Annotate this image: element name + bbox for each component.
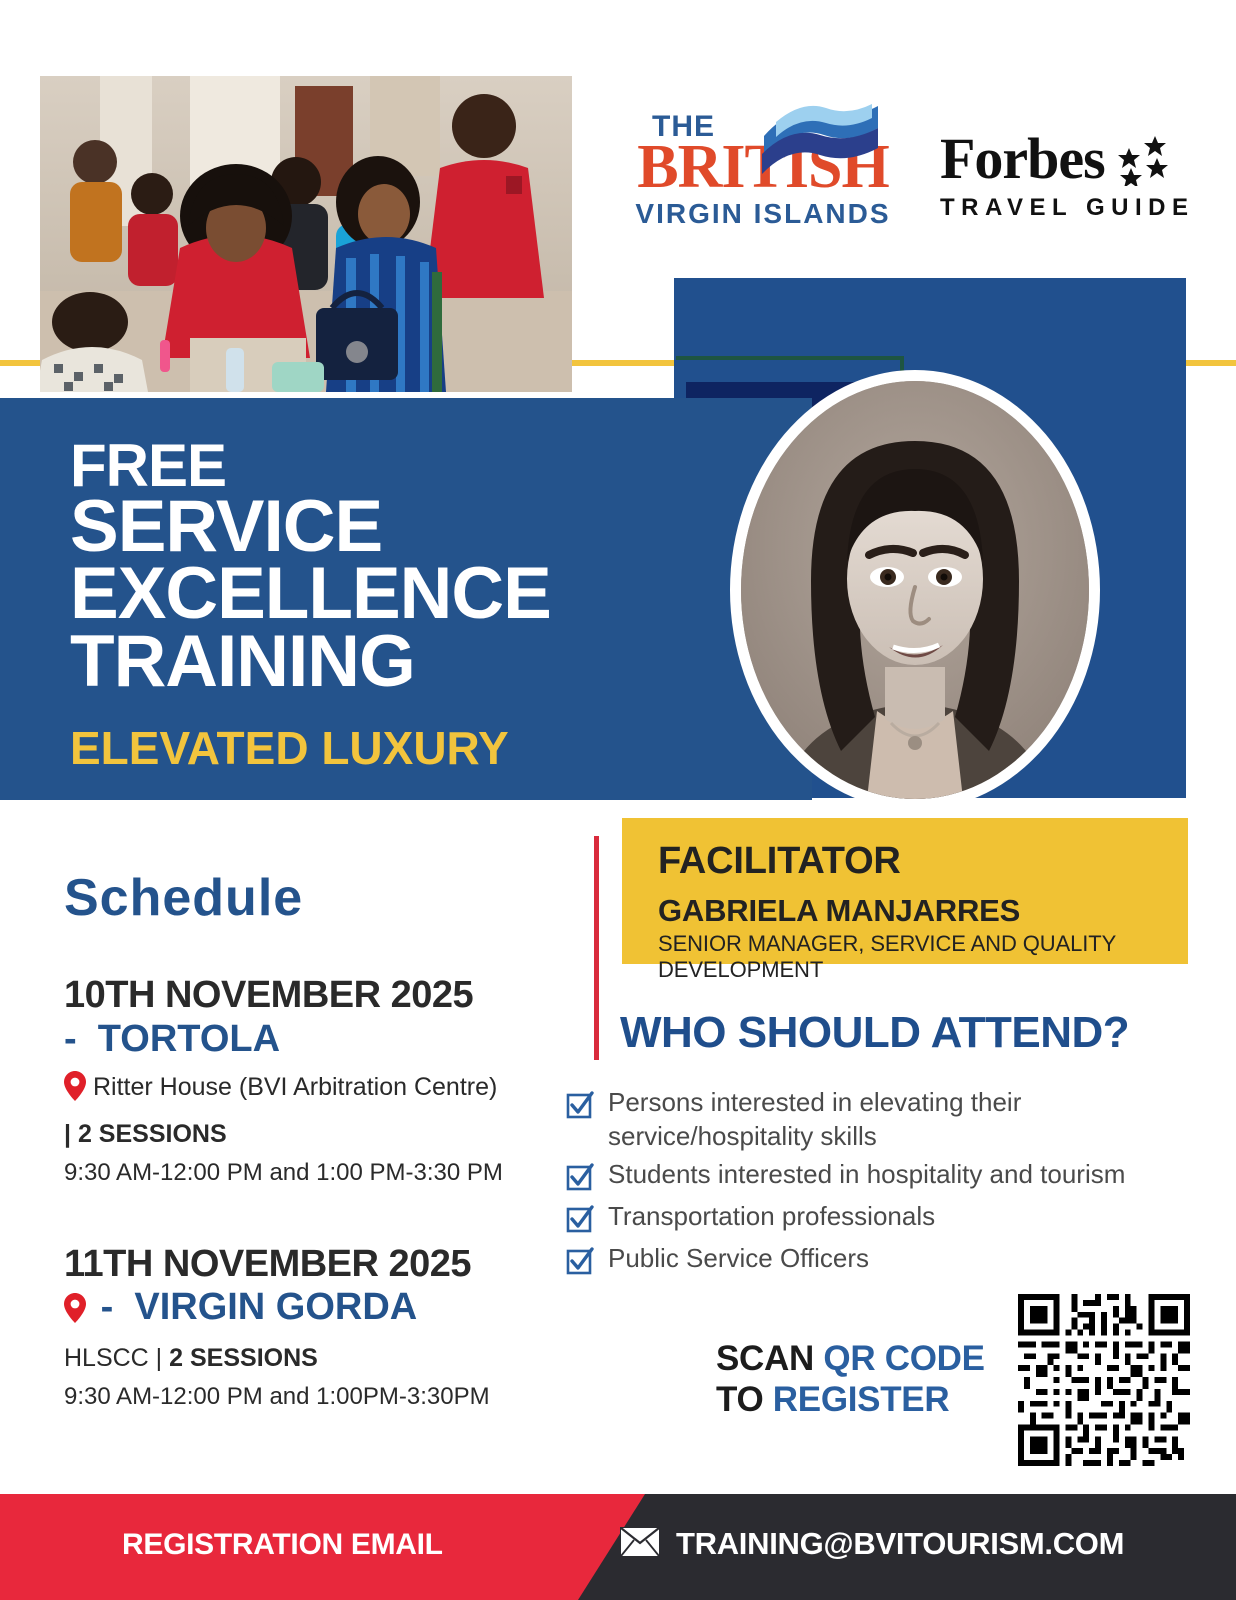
bvi-logo: THE BRITISH VIRGIN ISLANDS (628, 112, 898, 228)
headline-subtitle: ELEVATED LUXURY (70, 721, 770, 775)
list-item: Persons interested in elevating their se… (566, 1086, 1186, 1154)
list-item: Public Service Officers (566, 1242, 1186, 1280)
list-item: Students interested in hospitality and t… (566, 1158, 1186, 1196)
footer-label: REGISTRATION EMAIL (122, 1528, 443, 1562)
facilitator-name: GABRIELA MANJARRES (658, 893, 1188, 929)
bvi-logo-sub: VIRGIN ISLANDS (628, 200, 898, 228)
facilitator-title: FACILITATOR (658, 840, 1188, 883)
scan-word-scan: SCAN (716, 1339, 823, 1378)
location-pin-icon (64, 1071, 86, 1110)
flyer-page: THE BRITISH VIRGIN ISLANDS Forbes TRAVEL… (0, 0, 1236, 1600)
location-pin-icon (64, 1289, 86, 1334)
event-location: - VIRGIN GORDA (64, 1285, 564, 1334)
event-times: 9:30 AM-12:00 PM and 1:00 PM-3:30 PM (64, 1159, 564, 1187)
footer-email-address: TRAINING@BVITOURISM.COM (676, 1526, 1124, 1562)
list-item-label: Public Service Officers (608, 1242, 869, 1276)
schedule-event-virgin-gorda: 11TH NOVEMBER 2025 - VIRGIN GORDA HLSCC … (64, 1243, 564, 1411)
headline-line-1: FREE (70, 438, 770, 493)
headline-line-2: SERVICE (70, 493, 770, 560)
headline-line-4: TRAINING (70, 628, 770, 695)
envelope-icon (620, 1527, 660, 1562)
event-date: 10TH NOVEMBER 2025 (64, 974, 564, 1017)
scan-word-to: TO (716, 1380, 773, 1419)
event-dash: - (64, 1018, 77, 1060)
event-location: - TORTOLA (64, 1017, 564, 1062)
wave-icon (756, 100, 886, 174)
checkbox-checked-icon (566, 1205, 594, 1238)
list-item-label: Students interested in hospitality and t… (608, 1158, 1125, 1192)
event-sessions-prefix: HLSCC | (64, 1344, 162, 1372)
who-should-attend-title: WHO SHOULD ATTEND? (620, 1008, 1129, 1058)
checkbox-checked-icon (566, 1247, 594, 1280)
facilitator-card: FACILITATOR GABRIELA MANJARRES SENIOR MA… (622, 818, 1188, 964)
scan-line-2: TO REGISTER (716, 1379, 985, 1420)
headline-line-3: EXCELLENCE (70, 560, 770, 627)
event-sessions: 2 SESSIONS (78, 1120, 227, 1148)
event-location-label: VIRGIN GORDA (134, 1286, 417, 1328)
checkbox-checked-icon (566, 1091, 594, 1124)
event-sessions-prefix: | (64, 1120, 71, 1148)
footer-email-block[interactable]: TRAINING@BVITOURISM.COM (620, 1526, 1124, 1562)
forbes-wordmark: Forbes (940, 130, 1105, 188)
list-item-label: Transportation professionals (608, 1200, 935, 1234)
event-sessions-row: | 2 SESSIONS (64, 1120, 564, 1149)
scan-word-register: REGISTER (773, 1380, 950, 1419)
schedule-heading: Schedule (64, 868, 564, 928)
hero-headline: FREE SERVICE EXCELLENCE TRAINING ELEVATE… (70, 438, 770, 775)
footer-bar: REGISTRATION EMAIL TRAINING@BVITOURISM.C… (0, 1494, 1236, 1600)
event-venue-row: Ritter House (BVI Arbitration Centre) (64, 1071, 564, 1110)
forbes-tagline: TRAVEL GUIDE (940, 196, 1200, 220)
event-sessions-row: HLSCC | 2 SESSIONS (64, 1344, 564, 1373)
qr-code-icon[interactable] (1018, 1294, 1190, 1466)
scan-line-1: SCAN QR CODE (716, 1338, 985, 1379)
red-vertical-divider (594, 836, 599, 1060)
scan-to-register-text: SCAN QR CODE TO REGISTER (716, 1338, 985, 1421)
facilitator-portrait (730, 370, 1100, 810)
forbes-travel-guide-logo: Forbes TRAVEL GUIDE (940, 130, 1200, 220)
facilitator-role: SENIOR MANAGER, SERVICE AND QUALITY DEVE… (658, 931, 1188, 983)
scan-word-qrcode: QR CODE (823, 1339, 984, 1378)
checkbox-checked-icon (566, 1163, 594, 1196)
training-workshop-photo (40, 76, 572, 392)
event-sessions: 2 SESSIONS (169, 1344, 318, 1372)
schedule-event-tortola: 10TH NOVEMBER 2025 - TORTOLA Ritter Hous… (64, 974, 564, 1187)
stars-icon (1115, 136, 1171, 190)
event-dash: - (101, 1286, 114, 1328)
event-date: 11TH NOVEMBER 2025 (64, 1243, 564, 1286)
event-location-label: TORTOLA (98, 1018, 280, 1060)
list-item: Transportation professionals (566, 1200, 1186, 1238)
schedule-section: Schedule 10TH NOVEMBER 2025 - TORTOLA Ri… (64, 868, 564, 1411)
event-times: 9:30 AM-12:00 PM and 1:00PM-3:30PM (64, 1383, 564, 1411)
event-venue: Ritter House (BVI Arbitration Centre) (93, 1071, 497, 1104)
list-item-label: Persons interested in elevating their se… (608, 1086, 1186, 1154)
who-should-attend-list: Persons interested in elevating their se… (566, 1086, 1186, 1284)
